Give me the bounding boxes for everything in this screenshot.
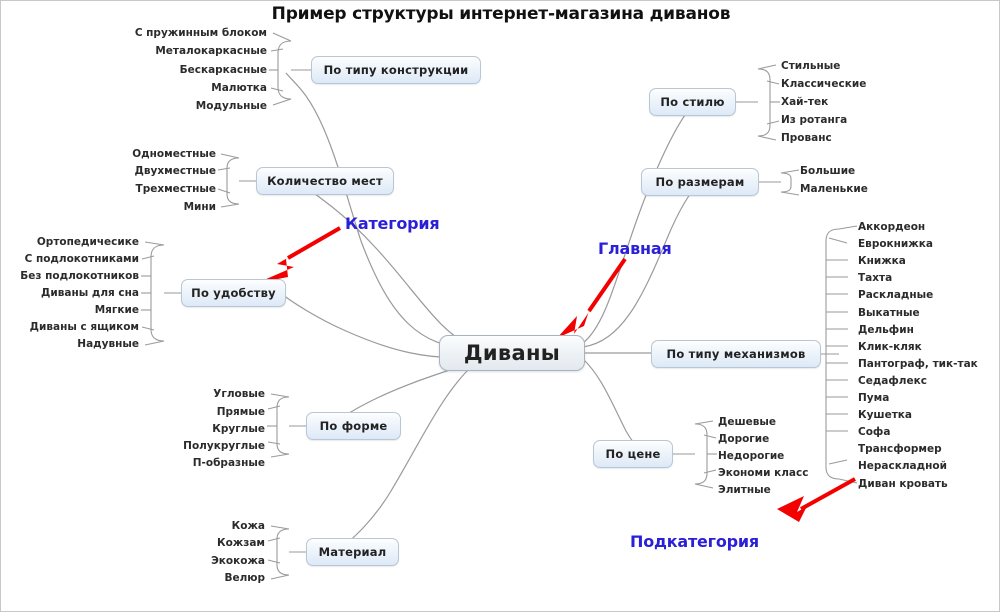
- leaf-myagkie[interactable]: Мягкие: [3, 304, 139, 316]
- node-kolichestvo-mest-label: Количество мест: [267, 174, 383, 188]
- leaf-divany-dlya-sna[interactable]: Диваны для сна: [3, 287, 139, 299]
- leaf-mini[interactable]: Мини: [11, 201, 216, 213]
- node-root[interactable]: Диваны: [439, 335, 585, 371]
- leaf-elitnye[interactable]: Элитные: [718, 484, 848, 496]
- leaf-ekokozha[interactable]: Экокожа: [131, 555, 265, 567]
- node-po-udobstvu-label: По удобству: [191, 286, 276, 300]
- leaf-sedafleks[interactable]: Седафлекс: [858, 375, 1000, 387]
- node-material[interactable]: Материал: [306, 538, 399, 566]
- leaf-modulnye[interactable]: Модульные: [21, 100, 267, 112]
- node-po-udobstvu[interactable]: По удобству: [181, 279, 286, 307]
- leaf-p-obraznye[interactable]: П-образные: [111, 457, 265, 469]
- leaf-polukruglye[interactable]: Полукруглые: [111, 440, 265, 452]
- arrow-kategoriya: [257, 228, 340, 283]
- leaf-kozhzam[interactable]: Кожзам: [131, 537, 265, 549]
- annotation-glavnaya: Главная: [598, 239, 672, 258]
- arrow-glavnaya: [557, 259, 625, 338]
- leaf-trehmestnye[interactable]: Трехместные: [11, 183, 216, 195]
- page-title: Пример структуры интернет-магазина диван…: [1, 4, 1000, 24]
- leaf-tahta[interactable]: Тахта: [858, 272, 1000, 284]
- leaf-kushetka[interactable]: Кушетка: [858, 409, 1000, 421]
- node-po-tipu-mehanizmov[interactable]: По типу механизмов: [651, 340, 821, 368]
- leaf-delfin[interactable]: Дельфин: [858, 324, 1000, 336]
- annotation-kategoriya: Категория: [345, 214, 440, 233]
- node-po-tipu-mehanizmov-label: По типу механизмов: [667, 347, 806, 361]
- node-po-tipu-konstrukcii-label: По типу конструкции: [324, 63, 469, 77]
- leaf-stilnye[interactable]: Стильные: [781, 60, 991, 72]
- leaf-sofa[interactable]: Софа: [858, 426, 1000, 438]
- leaf-akkordeon[interactable]: Аккордеон: [858, 221, 1000, 233]
- leaf-uglovye[interactable]: Угловые: [111, 388, 265, 400]
- leaf-ortopedichesike[interactable]: Ортопедичесике: [3, 236, 139, 248]
- annotation-podkategoriya: Подкатегория: [630, 532, 759, 551]
- node-po-stilyu-label: По стилю: [660, 95, 724, 109]
- leaf-metalokarkasnye[interactable]: Металокаркасные: [21, 45, 267, 57]
- leaf-ekonomi-klass[interactable]: Экономи класс: [718, 467, 848, 479]
- leaf-malenkie[interactable]: Маленькие: [800, 183, 990, 195]
- node-po-cene-label: По цене: [606, 447, 661, 461]
- node-po-razmeram-label: По размерам: [656, 175, 745, 189]
- node-material-label: Материал: [319, 545, 387, 559]
- node-kolichestvo-mest[interactable]: Количество мест: [256, 167, 394, 195]
- leaf-odnomestnye[interactable]: Одноместные: [11, 148, 216, 160]
- node-po-stilyu[interactable]: По стилю: [649, 88, 736, 116]
- node-po-forme[interactable]: По форме: [306, 412, 401, 440]
- leaf-neraskladnoy[interactable]: Нераскладной: [858, 460, 1000, 472]
- leaf-naduvnye[interactable]: Надувные: [3, 338, 139, 350]
- leaf-iz-rotanga[interactable]: Из ротанга: [781, 114, 991, 126]
- leaf-provans[interactable]: Прованс: [781, 132, 991, 144]
- leaf-dvuhmestnye[interactable]: Двухместные: [11, 165, 216, 177]
- leaf-pryamye[interactable]: Прямые: [111, 406, 265, 418]
- mindmap-canvas: Пример структуры интернет-магазина диван…: [0, 0, 1000, 612]
- leaf-divany-s-yashchikom[interactable]: Диваны с ящиком: [3, 321, 139, 333]
- leaf-nedorogie[interactable]: Недорогие: [718, 450, 848, 462]
- leaf-bez-podlokotnikov[interactable]: Без подлокотников: [3, 270, 139, 282]
- leaf-klik-klyak[interactable]: Клик-кляк: [858, 341, 1000, 353]
- leaf-s-pruzhinnym-blokom[interactable]: С пружинным блоком: [21, 27, 267, 39]
- leaf-deshevye[interactable]: Дешевые: [718, 416, 848, 428]
- node-root-label: Диваны: [464, 341, 560, 365]
- leaf-divan-krovat[interactable]: Диван кровать: [858, 478, 1000, 490]
- leaf-pantograf-tik-tak[interactable]: Пантограф, тик-так: [858, 358, 1000, 370]
- leaf-raskladnye[interactable]: Раскладные: [858, 289, 1000, 301]
- leaf-hay-tek[interactable]: Хай-тек: [781, 96, 991, 108]
- leaf-dorogie[interactable]: Дорогие: [718, 433, 848, 445]
- leaf-klassicheskie[interactable]: Классические: [781, 78, 991, 90]
- leaf-evroknizhka[interactable]: Еврокнижка: [858, 238, 1000, 250]
- leaf-bolshie[interactable]: Большие: [800, 165, 990, 177]
- leaf-malyutka[interactable]: Малютка: [21, 82, 267, 94]
- node-po-razmeram[interactable]: По размерам: [641, 168, 759, 196]
- leaf-vykatnye[interactable]: Выкатные: [858, 307, 1000, 319]
- leaf-beskarkasnye[interactable]: Бескаркасные: [21, 64, 267, 76]
- leaf-kruglye[interactable]: Круглые: [111, 423, 265, 435]
- leaf-s-podlokotnikami[interactable]: С подлокотниками: [3, 253, 139, 265]
- leaf-kozha[interactable]: Кожа: [131, 520, 265, 532]
- node-po-tipu-konstrukcii[interactable]: По типу конструкции: [311, 56, 481, 84]
- leaf-velyur[interactable]: Велюр: [131, 572, 265, 584]
- leaf-transformer[interactable]: Трансформер: [858, 443, 1000, 455]
- leaf-knizhka[interactable]: Книжка: [858, 255, 1000, 267]
- node-po-cene[interactable]: По цене: [593, 440, 673, 468]
- node-po-forme-label: По форме: [320, 419, 388, 433]
- leaf-puma[interactable]: Пума: [858, 392, 1000, 404]
